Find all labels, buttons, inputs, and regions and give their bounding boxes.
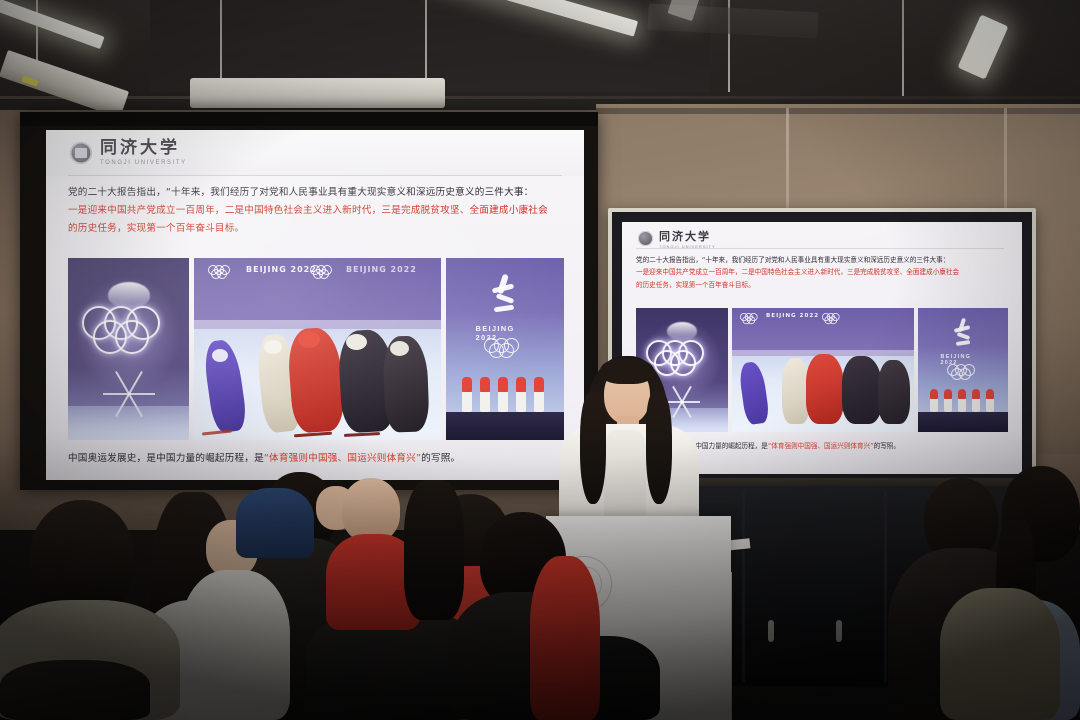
- screen-housing: [20, 112, 598, 126]
- skater-red: [806, 354, 844, 424]
- ceremony-scene: [68, 258, 189, 440]
- photo-podium: BEIJING 2022: [446, 258, 564, 440]
- body-line: 一是迎来中国共产党成立一百周年，二是中国特色社会主义进入新时代，三是完成脱贫攻坚…: [68, 202, 564, 220]
- olympic-rings-icon: [822, 313, 843, 322]
- athlete-figure: [958, 389, 966, 412]
- projection-screen: 同济大学 TONGJI UNIVERSITY 党的二十大报告指出，“十年来，我们…: [20, 112, 598, 490]
- university-name-cn: 同济大学: [659, 228, 716, 244]
- caption-suffix: 的写照。: [421, 453, 460, 464]
- photo-podium: BEIJING 2022: [918, 308, 1008, 432]
- beijing-2022-text: BEIJING 2022: [246, 265, 317, 274]
- podium-floor: [446, 412, 564, 440]
- slide-photo-row: BEIJING 2022 BEIJING 2022: [68, 258, 564, 440]
- presenter-hair-right: [646, 392, 672, 504]
- caption-quote: “体育强则中国强、国运兴则体育兴”: [768, 442, 874, 450]
- slide-caption: 中国奥运发展史，是中国力量的崛起历程，是“体育强则中国强、国运兴则体育兴”的写照…: [68, 450, 460, 464]
- ceiling-seam: [0, 96, 1080, 99]
- olympic-rings-icon: [740, 313, 761, 322]
- olympic-rings-icon: [310, 265, 336, 276]
- caption-quote: “体育强则中国强、国运兴则体育兴”: [264, 453, 421, 464]
- body-line: 的历史任务，实现第一个百年奋斗目标。: [636, 279, 1008, 291]
- caption-prefix: 中国奥运发展史，是中国力量的崛起历程，是: [68, 453, 264, 464]
- body-line: 党的二十大报告指出，“十年来，我们经历了对党和人民事业具有重大现实意义和深远历史…: [68, 184, 564, 202]
- university-name-en: TONGJI UNIVERSITY: [100, 160, 187, 166]
- header-divider: [636, 248, 1004, 249]
- athlete-figure: [534, 377, 544, 412]
- photo-olympic-cauldron: [68, 258, 189, 440]
- podium-scene: BEIJING 2022: [446, 258, 564, 440]
- skater-dark-2: [878, 360, 910, 424]
- presenter-hair-left: [580, 392, 606, 504]
- tongji-seal-icon: [70, 142, 92, 164]
- skating-scene: BEIJING 2022: [732, 308, 914, 432]
- whiteboard-body-text: 党的二十大报告指出，“十年来，我们经历了对党和人民事业具有重大现实意义和深远历史…: [636, 254, 1008, 291]
- photo-speed-skating: BEIJING 2022: [732, 308, 914, 432]
- podium-floor: [918, 412, 1008, 432]
- cabinet-divider: [884, 492, 887, 682]
- skating-scene: BEIJING 2022 BEIJING 2022: [194, 258, 441, 440]
- skater-helmet: [298, 331, 320, 348]
- skater-dark: [842, 356, 882, 424]
- skate-blade: [202, 429, 232, 435]
- header-divider: [68, 175, 562, 176]
- beijing-2022-text: BEIJING 2022: [766, 313, 819, 319]
- presenter-inner-top: [604, 430, 646, 520]
- athlete-figure: [498, 377, 508, 412]
- skater-helmet: [346, 334, 367, 350]
- presenter-fringe: [600, 358, 654, 384]
- skater-helmet: [264, 340, 282, 354]
- university-logo-mirror: 同济大学 TONGJI UNIVERSITY: [638, 228, 716, 249]
- light-wire: [425, 0, 427, 82]
- light-wire: [902, 0, 904, 96]
- olympic-rings-icon: [484, 338, 526, 355]
- podium-scene: BEIJING 2022: [918, 308, 1008, 432]
- stadium-floor: [68, 406, 189, 440]
- university-logo: 同济大学 TONGJI UNIVERSITY: [70, 140, 187, 166]
- skater-purple: [738, 361, 770, 426]
- body-line: 的历史任务，实现第一个百年奋斗目标。: [68, 220, 564, 238]
- tongji-seal-icon: [638, 231, 653, 246]
- beijing-2022-emblem-icon: [947, 318, 979, 350]
- ceiling-light-fixture: [190, 78, 445, 108]
- athlete-figure: [516, 377, 526, 412]
- athlete-figure: [480, 377, 490, 412]
- whiteboard-photo-row: BEIJING 2022: [636, 308, 1008, 432]
- caption-suffix: 的写照。: [874, 442, 900, 450]
- beijing-2022-text-2: BEIJING 2022: [346, 265, 417, 274]
- wall-trim: [596, 108, 1080, 114]
- skater-helmet: [390, 341, 409, 356]
- athlete-figure: [944, 389, 952, 412]
- athlete-figure: [930, 389, 938, 412]
- body-line: 一是迎来中国共产党成立一百周年，二是中国特色社会主义进入新时代，三是完成脱贫攻坚…: [636, 266, 1008, 278]
- cauldron-flame-icon: [667, 322, 697, 340]
- olympic-rings-icon: [208, 265, 234, 276]
- athlete-figure: [462, 377, 472, 412]
- lecture-hall-photo: 同济大学 TONGJI UNIVERSITY 党的二十大报告指出，“十年来，我们…: [0, 0, 1080, 720]
- olympic-ring-icon: [115, 320, 149, 354]
- light-wire: [220, 0, 222, 80]
- cabinet-handle[interactable]: [836, 620, 842, 642]
- skater-helmet: [212, 349, 228, 362]
- cabinet-divider: [742, 492, 745, 682]
- athlete-figure: [972, 389, 980, 412]
- skate-blade: [344, 432, 380, 437]
- cabinet-handle[interactable]: [768, 620, 774, 642]
- photo-speed-skating: BEIJING 2022 BEIJING 2022: [194, 258, 441, 440]
- slide-body-text: 党的二十大报告指出，“十年来，我们经历了对党和人民事业具有重大现实意义和深远历史…: [68, 184, 564, 238]
- body-line: 党的二十大报告指出，“十年来，我们经历了对党和人民事业具有重大现实意义和深远历史…: [636, 254, 1008, 266]
- athlete-figure: [986, 389, 994, 412]
- skate-blade: [294, 432, 332, 438]
- slide-content: 同济大学 TONGJI UNIVERSITY 党的二十大报告指出，“十年来，我们…: [46, 130, 584, 480]
- beijing-2022-emblem-icon: [482, 274, 528, 320]
- olympic-ring-icon: [670, 350, 696, 376]
- olympic-rings-icon: [947, 364, 979, 377]
- university-name-cn: 同济大学: [100, 140, 187, 157]
- cauldron-flame-icon: [108, 282, 150, 308]
